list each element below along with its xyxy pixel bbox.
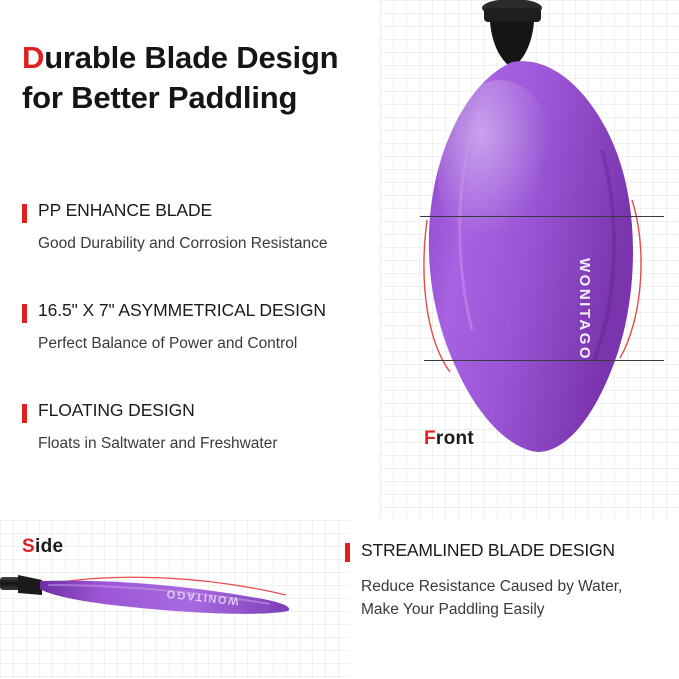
feature-item-streamlined: STREAMLINED BLADE DESIGN Reduce Resistan… xyxy=(345,540,675,622)
label-front: Front xyxy=(424,428,474,450)
headline-line2: for Better Paddling xyxy=(22,80,297,115)
label-side-accent: S xyxy=(22,536,35,557)
side-blade-neck xyxy=(18,575,42,595)
feature-item: 16.5" X 7" ASYMMETRICAL DESIGN Perfect B… xyxy=(22,300,394,355)
measurement-line-width xyxy=(420,216,664,217)
feature-item: FLOATING DESIGN Floats in Saltwater and … xyxy=(22,400,394,455)
blade-side-svg xyxy=(0,555,350,655)
label-front-accent: F xyxy=(424,428,436,449)
label-side-rest: ide xyxy=(35,536,63,557)
feature-title: FLOATING DESIGN xyxy=(38,400,394,421)
paddle-blade-side-image xyxy=(0,555,350,655)
label-front-rest: ront xyxy=(436,428,474,449)
headline-accent-letter: D xyxy=(22,40,44,75)
feature-title: STREAMLINED BLADE DESIGN xyxy=(361,540,675,561)
feature-title: PP ENHANCE BLADE xyxy=(38,200,394,221)
feature-bullet-bar xyxy=(22,304,27,323)
infographic-page: Durable Blade Design for Better Paddling… xyxy=(0,0,679,679)
measurement-line-length xyxy=(424,360,664,361)
feature-bullet-bar xyxy=(22,204,27,223)
feature-item: PP ENHANCE BLADE Good Durability and Cor… xyxy=(22,200,394,255)
feature-subtitle: Perfect Balance of Power and Control xyxy=(38,334,394,355)
headline-line1: urable Blade Design xyxy=(44,40,338,75)
page-title: Durable Blade Design for Better Paddling xyxy=(22,38,382,119)
brand-text-main: WONITAGO xyxy=(576,258,593,361)
feature-bullet-bar xyxy=(22,404,27,423)
feature-subtitle: Floats in Saltwater and Freshwater xyxy=(38,434,394,455)
shaft-collar xyxy=(484,8,541,22)
blade-highlight xyxy=(438,80,562,270)
label-side: Side xyxy=(22,536,63,558)
feature-subtitle: Good Durability and Corrosion Resistance xyxy=(38,234,394,255)
feature-title: 16.5" X 7" ASYMMETRICAL DESIGN xyxy=(38,300,394,321)
feature-subtitle: Reduce Resistance Caused by Water, Make … xyxy=(361,575,675,622)
blade-neck xyxy=(490,22,534,68)
